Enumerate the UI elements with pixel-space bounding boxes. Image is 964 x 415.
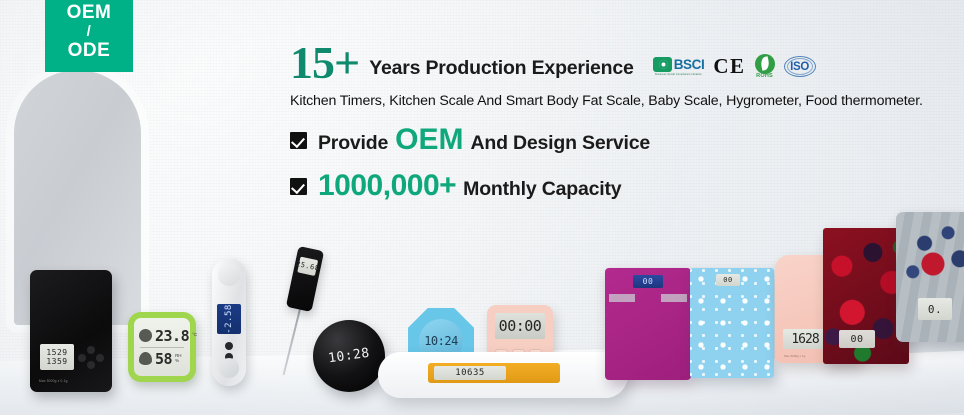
water-drop-icon bbox=[139, 352, 152, 365]
purple-scale-display: 00 bbox=[633, 275, 663, 288]
thermometer-hinge bbox=[218, 264, 240, 286]
feature-oem-suffix: And Design Service bbox=[470, 132, 650, 155]
black-scale-buttons bbox=[78, 346, 104, 368]
berry-scale-display: 00 bbox=[839, 330, 875, 348]
certification-badges: BSCI Business Social Compliance Initiati… bbox=[653, 54, 816, 84]
feature-capacity-suffix: Monthly Capacity bbox=[463, 178, 621, 201]
bsci-badge: BSCI Business Social Compliance Initiati… bbox=[653, 57, 705, 76]
product-black-probe-thermometer: 25.68 bbox=[286, 246, 324, 312]
oem-badge-line2: ODE bbox=[68, 40, 111, 61]
years-number: 15+ bbox=[290, 42, 359, 84]
feature-row-oem: Provide OEM And Design Service bbox=[290, 125, 955, 155]
product-black-kitchen-scale: 1529 1359 Max 5000g x 0.1g bbox=[30, 270, 112, 392]
hygrometer-screen: 23.8 °C 58 RH % bbox=[134, 318, 190, 376]
hygrometer-temp-unit: °C bbox=[192, 333, 197, 338]
white-thermometer-display: -2.58 bbox=[217, 304, 241, 334]
product-tagline: Kitchen Timers, Kitchen Scale And Smart … bbox=[290, 93, 955, 109]
rohs-badge: ROHS bbox=[755, 54, 775, 79]
ce-label: CE bbox=[713, 54, 745, 79]
product-purple-body-fat-scale: 00 bbox=[605, 268, 691, 380]
bsci-sublabel: Business Social Compliance Initiative bbox=[655, 73, 702, 76]
product-white-folding-thermometer: -2.58 bbox=[212, 258, 246, 386]
black-scale-capacity: Max 5000g x 0.1g bbox=[39, 379, 68, 383]
bsci-mark-group: BSCI bbox=[653, 57, 705, 72]
feature-row-capacity: 1000,000+ Monthly Capacity bbox=[290, 171, 955, 201]
rohs-leaf-icon bbox=[755, 54, 775, 74]
face-icon bbox=[139, 329, 152, 342]
gray-scale-display: 0. bbox=[918, 298, 952, 320]
ce-badge: CE bbox=[713, 54, 745, 79]
hygrometer-humidity-row: 58 RH % bbox=[139, 350, 185, 368]
thermometer-hook bbox=[219, 358, 239, 378]
feature-capacity-text: 1000,000+ Monthly Capacity bbox=[318, 171, 621, 201]
feature-oem-prefix: Provide bbox=[318, 132, 388, 155]
bsci-label: BSCI bbox=[674, 57, 705, 72]
product-gray-berry-scale: 0. bbox=[896, 212, 964, 342]
marketing-copy: 15+ Years Production Experience BSCI Bus… bbox=[290, 42, 955, 201]
oem-ode-badge: OEM / ODE bbox=[45, 0, 133, 72]
years-label: Years Production Experience bbox=[369, 57, 633, 84]
hygrometer-humidity-unit: RH % bbox=[175, 354, 185, 364]
hygrometer-humidity: 58 bbox=[155, 350, 172, 368]
feature-oem-text: Provide OEM And Design Service bbox=[318, 125, 650, 155]
pink-scale-display: 1628 bbox=[783, 329, 827, 349]
oem-badge-line1: OEM bbox=[67, 2, 112, 23]
bsci-icon bbox=[653, 57, 672, 72]
electrode-pad bbox=[661, 294, 687, 302]
baby-scale-display: 10635 bbox=[434, 366, 506, 380]
black-scale-value-top: 1529 bbox=[46, 348, 67, 357]
oem-badge-slash: / bbox=[87, 24, 92, 41]
iso-label: ISO bbox=[790, 61, 809, 73]
iso-badge: ISO bbox=[784, 56, 816, 77]
feature-capacity-highlight: 1000,000+ bbox=[318, 171, 456, 201]
product-green-hygrometer: 23.8 °C 58 RH % bbox=[128, 312, 196, 382]
round-timer-display: 10:28 bbox=[327, 346, 370, 367]
iso-globe-icon: ISO bbox=[784, 56, 816, 77]
headline-row: 15+ Years Production Experience BSCI Bus… bbox=[290, 42, 955, 84]
thermometer-button bbox=[225, 342, 233, 350]
rohs-label: ROHS bbox=[756, 73, 773, 79]
pink-timer-display: 00:00 bbox=[495, 313, 545, 339]
black-scale-display: 1529 1359 bbox=[40, 344, 74, 370]
white-thermometer-value: -2.58 bbox=[224, 304, 234, 334]
baby-scale-panel: 10635 bbox=[428, 363, 560, 383]
product-blue-dotted-scale: 00 bbox=[690, 268, 774, 378]
blue-timer-display: 10:24 bbox=[424, 334, 458, 348]
hygrometer-temperature: 23.8 bbox=[155, 327, 189, 345]
electrode-pad bbox=[609, 294, 635, 302]
checkmark-icon bbox=[290, 132, 307, 149]
black-scale-value-bottom: 1359 bbox=[46, 357, 67, 366]
black-thermometer-display: 25.68 bbox=[297, 257, 318, 276]
pink-scale-capacity: Max 5000g x 1g bbox=[784, 354, 805, 358]
blue-scale-display: 00 bbox=[716, 274, 740, 286]
checkmark-icon bbox=[290, 178, 307, 195]
hygrometer-temp-row: 23.8 °C bbox=[139, 327, 185, 345]
product-round-magnetic-timer: 10:28 bbox=[313, 320, 385, 392]
divider bbox=[140, 347, 184, 348]
product-baby-scale: 10635 bbox=[378, 352, 628, 398]
feature-oem-highlight: OEM bbox=[395, 125, 463, 155]
promo-banner: OEM / ODE 15+ Years Production Experienc… bbox=[0, 0, 964, 415]
